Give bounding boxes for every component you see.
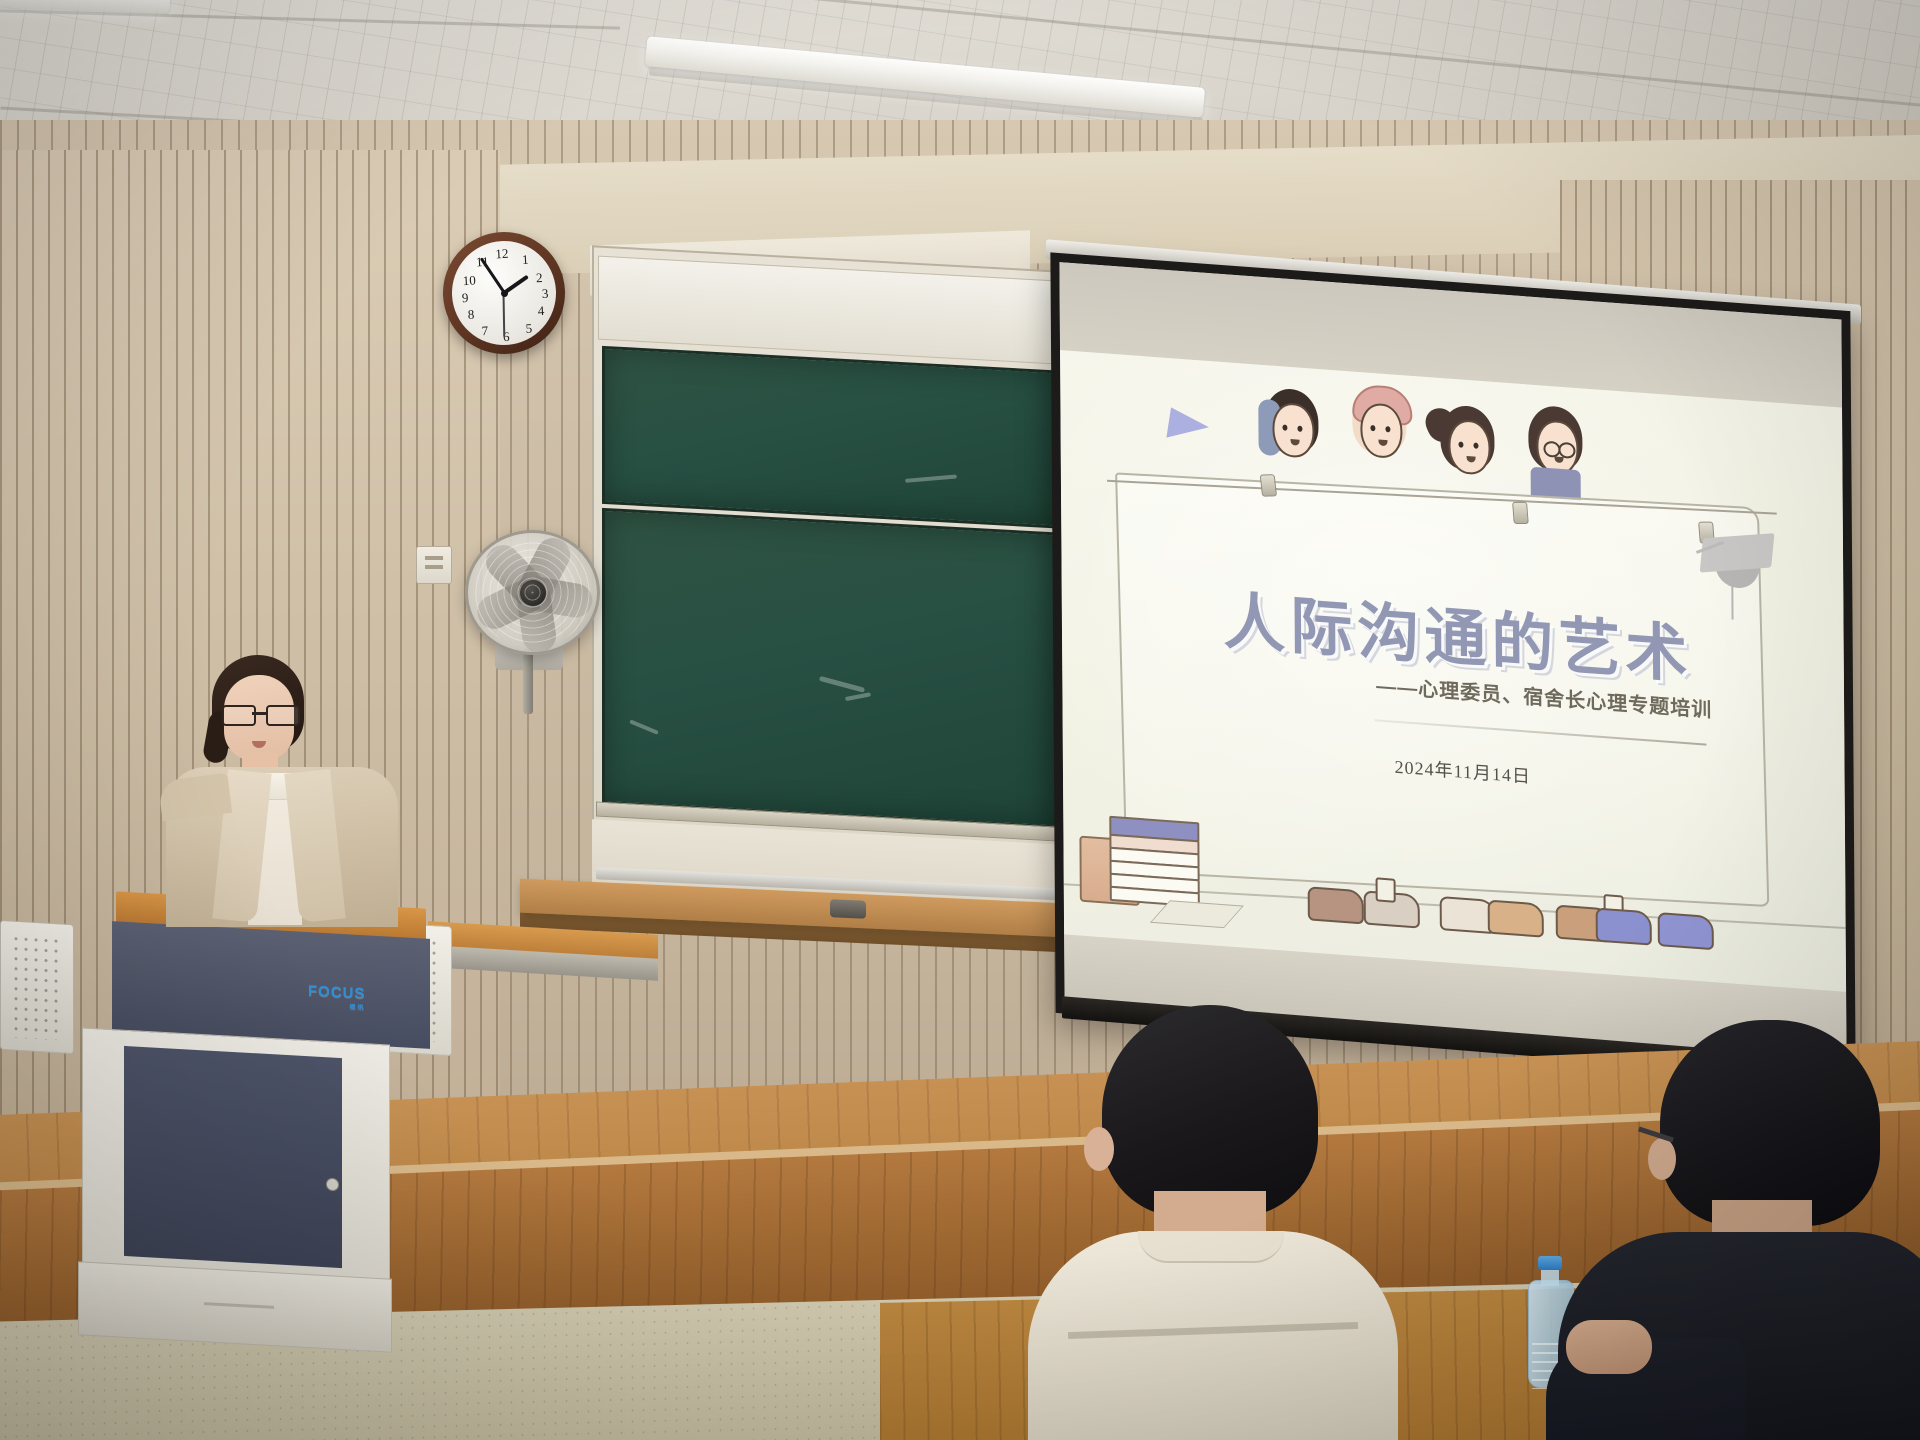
projection-screen[interactable]: 人际沟通的艺术 ——心理委员、宿舍长心理专题培训 2024年11月14日 (1050, 252, 1855, 1071)
speaker-grill (11, 933, 63, 1040)
clock-numeral-9: 9 (456, 291, 475, 305)
character-mouth (1378, 440, 1387, 447)
shoes-icon (1308, 886, 1364, 924)
banner-clip-icon (1260, 474, 1277, 497)
clock-numeral-12: 12 (493, 247, 512, 261)
audience-member-front-center (1028, 1005, 1398, 1440)
cap-tassel (1731, 583, 1733, 619)
podium-lock-knob[interactable] (326, 1178, 339, 1192)
sock-icon (1376, 877, 1396, 902)
clock-numeral-8: 8 (462, 307, 481, 321)
blackboard-panel-upper (602, 346, 1058, 529)
character-mouth (1291, 439, 1300, 446)
clock-minute-hand (479, 257, 505, 293)
wall-fan[interactable] (465, 530, 600, 655)
chalk-mark (845, 692, 871, 701)
podium-speaker-left (0, 920, 74, 1054)
banner-clip-icon (1512, 502, 1529, 524)
chalk-mark (905, 474, 957, 482)
podium-upper-body (112, 921, 430, 1049)
clock-numeral-4: 4 (532, 304, 551, 318)
audience-head (1102, 1005, 1318, 1217)
fan-support-arm (523, 648, 533, 714)
clock-numeral-7: 7 (476, 324, 495, 338)
clock-center-pin (500, 289, 507, 296)
shoes-icon (1596, 907, 1652, 945)
projection-screen-surface: 人际沟通的艺术 ——心理委员、宿舍长心理专题培训 2024年11月14日 (1059, 262, 1846, 1062)
audience-collar (1138, 1231, 1284, 1263)
clock-numeral-10: 10 (460, 273, 479, 287)
lectern-podium[interactable]: FOCUS 视讯 (78, 900, 498, 1360)
book-stack-icon (1101, 815, 1212, 911)
character-mouth (1555, 456, 1564, 463)
classroom-photo-scene: 12 1 2 3 4 5 6 7 8 9 10 11 (0, 0, 1920, 1440)
blackboard-panel-lower (602, 508, 1058, 829)
audience-ear (1084, 1127, 1114, 1171)
character-eye (1458, 441, 1463, 447)
glasses-bridge (252, 712, 266, 715)
podium-brand-text: FOCUS (308, 982, 366, 1002)
podium-brand-logo: FOCUS 视讯 (308, 982, 366, 1011)
rail-knob[interactable] (830, 899, 866, 919)
slide-character-boy-beanie (1348, 387, 1411, 484)
presentation-slide: 人际沟通的艺术 ——心理委员、宿舍长心理专题培训 2024年11月14日 (1060, 350, 1846, 992)
clock-numeral-2: 2 (530, 271, 549, 285)
coat-shoulder-left (158, 773, 232, 821)
character-eye (1282, 424, 1287, 430)
wall-clock: 12 1 2 3 4 5 6 7 8 9 10 11 (440, 229, 568, 357)
power-socket[interactable] (416, 546, 452, 584)
fan-cage (465, 530, 600, 655)
slide-character-girl-ponytail (1436, 404, 1499, 501)
blackboard-assembly (592, 245, 1062, 910)
slide-character-girl-headband (1260, 387, 1323, 484)
shoes-icon (1488, 900, 1544, 938)
podium-front-panel (124, 1046, 342, 1268)
clock-numeral-1: 1 (516, 252, 535, 266)
slide-character-boy-glasses (1524, 404, 1587, 501)
audience-hand (1566, 1320, 1652, 1374)
glasses-lens (222, 705, 256, 726)
shoes-icon (1658, 912, 1714, 950)
audience-ear (1648, 1138, 1676, 1180)
chalk-mark (629, 719, 659, 734)
cap-board (1700, 533, 1775, 573)
glasses-lens (266, 705, 300, 726)
character-eye (1370, 425, 1375, 431)
graduation-cap-icon (1701, 533, 1773, 598)
fan-grill-rings (473, 538, 592, 647)
clock-numeral-3: 3 (536, 286, 555, 300)
clock-numeral-6: 6 (497, 329, 516, 343)
audience-member-front-right (1552, 1020, 1920, 1440)
presenter-glasses-icon (222, 705, 296, 722)
character-eye (1473, 442, 1478, 448)
presenter (166, 655, 398, 925)
chalk-mark (819, 676, 865, 693)
clock-numeral-5: 5 (520, 321, 539, 335)
character-mouth (1467, 456, 1476, 463)
character-eye (1385, 426, 1390, 432)
character-eye (1297, 426, 1302, 432)
audience-head (1660, 1020, 1880, 1226)
